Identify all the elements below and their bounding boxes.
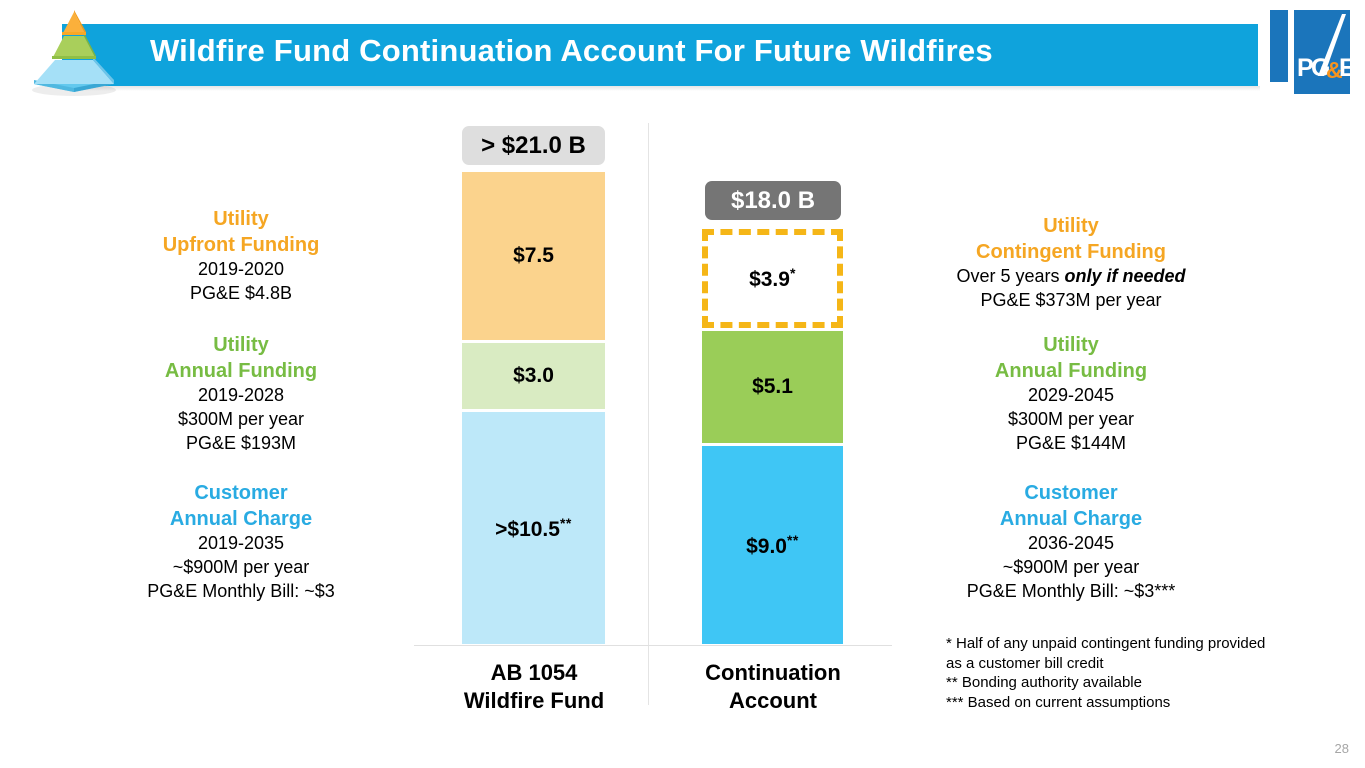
bar-segment-customer-charge[interactable]: $9.0** (702, 446, 843, 644)
footnote-line: *** Based on current assumptions (946, 693, 1346, 713)
annotation-left-annual-funding: Utility Annual Funding 2019-2028 $300M p… (76, 332, 406, 456)
bar-segment-contingent-funding[interactable]: $3.9* (702, 229, 843, 328)
annotation-heading-line1: Utility (906, 332, 1236, 358)
annotation-heading-line2: Annual Charge (76, 506, 406, 532)
annotation-heading-line2: Contingent Funding (906, 239, 1236, 265)
annotation-detail: PG&E $144M (906, 432, 1236, 456)
annotation-heading-line1: Customer (76, 480, 406, 506)
annotation-detail: 2029-2045 (906, 384, 1236, 408)
total-chip-ab1054: > $21.0 B (462, 126, 605, 165)
annotation-right-contingent-funding: Utility Contingent Funding Over 5 years … (906, 213, 1236, 313)
annotation-detail: PG&E $4.8B (76, 282, 406, 306)
slide-canvas: Wildfire Fund Continuation Account For F… (0, 0, 1365, 768)
annotation-detail: ~$900M per year (76, 556, 406, 580)
chart-baseline (414, 645, 892, 646)
annotation-detail: $300M per year (76, 408, 406, 432)
footnote-line: * Half of any unpaid contingent funding … (946, 634, 1346, 654)
bar-segment-label: $3.0 (513, 364, 554, 388)
footnotes: * Half of any unpaid contingent funding … (946, 634, 1346, 712)
total-chip-continuation: $18.0 B (705, 181, 841, 220)
bar-segment-label: $5.1 (752, 375, 793, 399)
annotation-heading-line2: Annual Funding (906, 358, 1236, 384)
annotation-detail: PG&E $193M (76, 432, 406, 456)
footnote-line: ** Bonding authority available (946, 673, 1346, 693)
annotation-detail: 2019-2028 (76, 384, 406, 408)
annotation-detail: PG&E $373M per year (906, 289, 1236, 313)
annotation-detail: 2019-2035 (76, 532, 406, 556)
annotation-heading-line2: Annual Charge (906, 506, 1236, 532)
annotation-right-annual-funding: Utility Annual Funding 2029-2045 $300M p… (906, 332, 1236, 456)
annotation-detail-emphasis: Over 5 years only if needed (906, 265, 1236, 289)
annotation-right-customer-charge: Customer Annual Charge 2036-2045 ~$900M … (906, 480, 1236, 604)
footnote-line: as a customer bill credit (946, 654, 1346, 674)
bar-segment-label: $3.9* (749, 265, 796, 292)
bar-segment-customer-charge[interactable]: >$10.5** (462, 412, 605, 644)
annotation-detail: 2036-2045 (906, 532, 1236, 556)
bar-segment-label: $7.5 (513, 244, 554, 268)
page-number: 28 (1335, 741, 1349, 756)
bar-segment-annual-funding[interactable]: $5.1 (702, 331, 843, 443)
bar-segment-annual-funding[interactable]: $3.0 (462, 343, 605, 409)
annotation-detail: PG&E Monthly Bill: ~$3*** (906, 580, 1236, 604)
annotation-detail: 2019-2020 (76, 258, 406, 282)
category-label-line1: AB 1054 (414, 659, 654, 687)
annotation-detail: ~$900M per year (906, 556, 1236, 580)
annotation-left-upfront-funding: Utility Upfront Funding 2019-2020 PG&E $… (76, 206, 406, 306)
annotation-heading-line1: Utility (76, 332, 406, 358)
annotation-heading-line1: Utility (76, 206, 406, 232)
category-label-line2: Account (653, 687, 893, 715)
category-label-line1: Continuation (653, 659, 893, 687)
bar-segment-upfront-funding[interactable]: $7.5 (462, 172, 605, 340)
annotation-heading-line2: Upfront Funding (76, 232, 406, 258)
annotation-heading-line1: Utility (906, 213, 1236, 239)
category-label-line2: Wildfire Fund (414, 687, 654, 715)
bar-segment-label: >$10.5** (495, 515, 572, 542)
annotation-heading-line1: Customer (906, 480, 1236, 506)
annotation-left-customer-charge: Customer Annual Charge 2019-2035 ~$900M … (76, 480, 406, 604)
category-label-ab1054: AB 1054 Wildfire Fund (414, 659, 654, 714)
bar-segment-label: $9.0** (746, 532, 799, 559)
annotation-detail: $300M per year (906, 408, 1236, 432)
annotation-detail: PG&E Monthly Bill: ~$3 (76, 580, 406, 604)
category-label-continuation: Continuation Account (653, 659, 893, 714)
chart-divider (648, 123, 649, 705)
annotation-heading-line2: Annual Funding (76, 358, 406, 384)
